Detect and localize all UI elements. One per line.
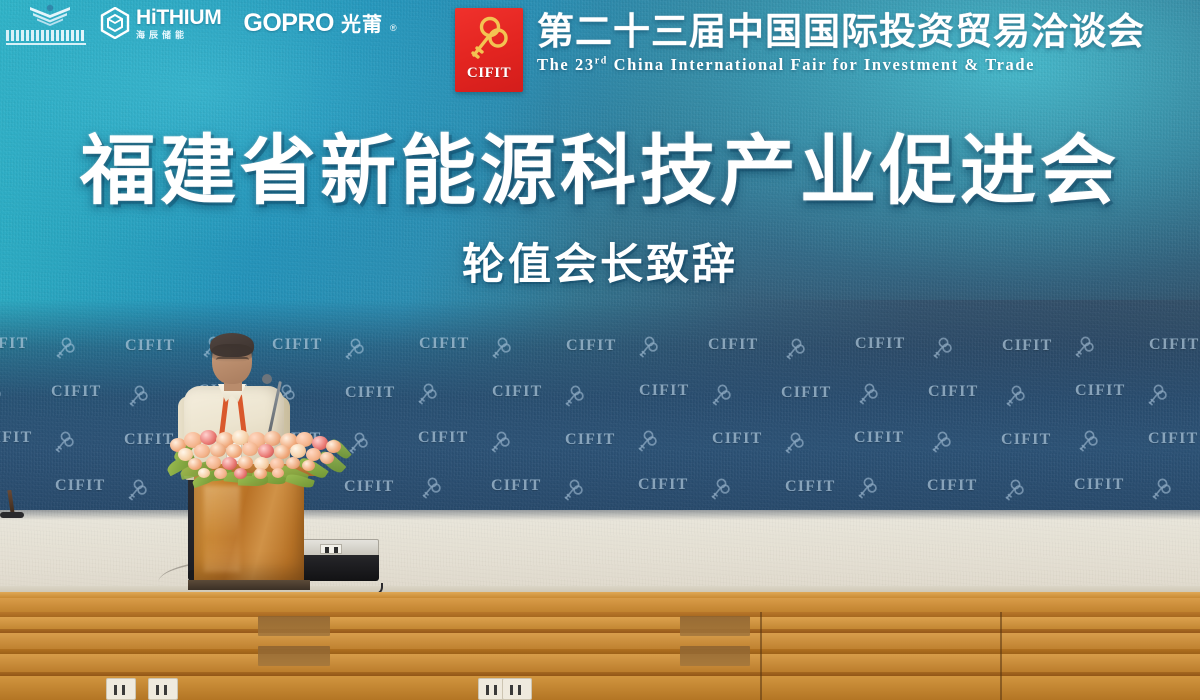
stage-front-recess	[258, 616, 330, 636]
flower-bloom	[214, 468, 227, 479]
cifit-title-en-ordinal: rd	[595, 56, 608, 67]
watermark-cifit-text: CIFIT	[785, 478, 835, 496]
watermark-cifit-text: CIFIT	[854, 429, 904, 447]
watermark-98-key-icon	[53, 430, 75, 459]
mic-stand-pole	[7, 490, 14, 514]
flower-arrangement	[168, 430, 358, 492]
stage-front-recess	[680, 616, 750, 636]
floor-mic-stand	[0, 490, 26, 520]
cifit-title-en: The 23rd China International Fair for In…	[537, 55, 1145, 75]
watermark-cifit-text: CIFIT	[638, 476, 688, 494]
watermark-98-key-icon	[856, 476, 878, 505]
watermark-98-key-icon	[710, 383, 732, 412]
flower-bloom	[326, 440, 341, 453]
watermark-98-key-icon	[1003, 478, 1025, 507]
hithium-logo: HiTHIUM 海辰储能	[100, 7, 221, 40]
stage-front-plank	[0, 598, 1200, 612]
watermark-cifit-text: CIFIT	[418, 429, 468, 447]
flower-bloom	[242, 442, 258, 456]
watermark-cifit-text: CIFIT	[566, 337, 616, 355]
watermark-cifit-text: CIFIT	[1001, 431, 1051, 449]
watermark-cifit-text: CIFIT	[124, 431, 174, 449]
sub-title: 轮值会长致辞	[0, 244, 1200, 287]
watermark-98-key-icon	[1073, 335, 1095, 364]
stage-front-plank	[0, 676, 1200, 700]
xiamen-association-underline	[6, 43, 86, 45]
stage-front-seam	[1000, 612, 1002, 700]
watermark-cifit-text: CIFIT	[1002, 337, 1052, 355]
stage-front-plank	[0, 617, 1200, 629]
watermark-98-key-icon	[126, 478, 148, 507]
watermark-98-key-icon	[709, 477, 731, 506]
gopro-trademark-symbol: ®	[390, 23, 397, 33]
gopro-wordmark-en: GOPRO	[243, 9, 334, 38]
power-outlet	[148, 678, 178, 700]
cifit-event-lockup: CIFIT 第二十三届中国国际投资贸易洽谈会 The 23rd China In…	[455, 8, 1145, 92]
flower-bloom	[274, 445, 290, 459]
watermark-cifit-text: CIFIT	[125, 337, 175, 355]
cifit-98-key-icon	[465, 14, 513, 64]
xiamen-association-label	[6, 30, 86, 41]
flower-bloom	[254, 468, 267, 479]
sponsor-logo-bar: HiTHIUM 海辰储能 GOPRO 光莆 ®	[0, 0, 397, 46]
watermark-cifit-text: CIFIT	[639, 382, 689, 400]
watermark-98-key-icon	[784, 337, 806, 366]
stage-front-plank	[0, 654, 1200, 672]
watermark-98-key-icon	[637, 335, 659, 364]
flower-bloom	[290, 444, 306, 458]
power-outlet	[106, 678, 136, 700]
flower-bloom	[234, 468, 247, 479]
hithium-hexagon-icon	[100, 7, 130, 39]
watermark-98-key-icon	[930, 430, 952, 459]
speaker-and-podium	[170, 336, 400, 596]
flower-bloom	[258, 444, 274, 458]
flower-bloom	[320, 452, 334, 464]
flower-bloom	[210, 443, 226, 457]
watermark-cifit-text: CIFIT	[1075, 382, 1125, 400]
cifit-badge: CIFIT	[455, 8, 523, 92]
stage-front-wood-panel	[0, 592, 1200, 700]
watermark-98-key-icon	[783, 431, 805, 460]
watermark-cifit-text: CIFIT	[928, 383, 978, 401]
stage-front-recess	[258, 646, 330, 666]
watermark-cifit-text: CIFIT	[55, 477, 105, 495]
mic-stand-base	[0, 512, 24, 518]
watermark-cifit-text: CIFIT	[1149, 336, 1199, 354]
watermark-98-key-icon	[562, 478, 584, 507]
main-title: 福建省新能源科技产业促进会	[0, 134, 1200, 210]
watermark-98-key-icon	[563, 384, 585, 413]
hithium-wordmark-en: HiTHIUM	[136, 7, 221, 28]
flower-bloom	[272, 468, 284, 478]
watermark-cifit-text: CIFIT	[491, 477, 541, 495]
podium-base	[188, 580, 310, 590]
power-outlet	[502, 678, 532, 700]
watermark-98-key-icon	[0, 382, 2, 411]
podium-reflection	[204, 486, 240, 572]
conference-stage-photo: HiTHIUM 海辰储能 GOPRO 光莆 ®	[0, 0, 1200, 700]
watermark-cifit-text: CIFIT	[855, 335, 905, 353]
watermark-cifit-text: CIFIT	[708, 336, 758, 354]
podium-microphone-head	[262, 374, 272, 384]
watermark-cifit-text: CIFIT	[712, 430, 762, 448]
flower-bloom	[226, 444, 242, 458]
watermark-98-key-icon	[931, 336, 953, 365]
watermark-cifit-text: CIFIT	[492, 383, 542, 401]
watermark-98-key-icon	[489, 430, 511, 459]
watermark-98-key-icon	[857, 382, 879, 411]
watermark-cifit-text: CIFIT	[51, 383, 101, 401]
stage-front-plank	[0, 633, 1200, 649]
watermark-cifit-text: CIFIT	[0, 429, 32, 447]
watermark-98-key-icon	[636, 429, 658, 458]
speaker-glasses	[216, 357, 249, 365]
watermark-98-key-icon	[54, 336, 76, 365]
flower-bloom	[198, 468, 210, 478]
watermark-98-key-icon	[1004, 384, 1026, 413]
watermark-98-key-icon	[490, 336, 512, 365]
xiamen-association-logo	[2, 1, 88, 45]
flower-bloom	[302, 460, 315, 471]
watermark-98-key-icon	[416, 382, 438, 411]
cifit-title-block: 第二十三届中国国际投资贸易洽谈会 The 23rd China Internat…	[537, 8, 1145, 75]
watermark-98-key-icon	[127, 384, 149, 413]
wings-emblem-icon	[28, 3, 72, 27]
stage-front-recess	[680, 646, 750, 666]
cifit-title-cn: 第二十三届中国国际投资贸易洽谈会	[537, 12, 1145, 51]
watermark-cifit-text: CIFIT	[0, 335, 28, 353]
watermark-98-key-icon	[1150, 477, 1172, 506]
watermark-cifit-text: CIFIT	[565, 431, 615, 449]
watermark-98-key-icon	[1077, 429, 1099, 458]
watermark-98-key-icon	[420, 476, 442, 505]
watermark-cifit-text: CIFIT	[419, 335, 469, 353]
watermark-98-key-icon	[1146, 383, 1168, 412]
flower-bloom	[194, 444, 210, 458]
gopro-wordmark-cn: 光莆	[341, 8, 383, 37]
cifit-title-en-pre: The 23	[537, 55, 595, 74]
cifit-title-en-post: China International Fair for Investment …	[608, 55, 1035, 74]
stage-front-seam	[760, 612, 762, 700]
watermark-cifit-text: CIFIT	[1074, 476, 1124, 494]
watermark-cifit-text: CIFIT	[1148, 430, 1198, 448]
watermark-cifit-text: CIFIT	[927, 477, 977, 495]
gopro-logo: GOPRO 光莆 ®	[243, 8, 396, 38]
cifit-badge-label: CIFIT	[467, 65, 511, 82]
flower-bloom	[286, 457, 300, 469]
hithium-wordmark-cn: 海辰储能	[136, 31, 221, 40]
watermark-cifit-text: CIFIT	[781, 384, 831, 402]
